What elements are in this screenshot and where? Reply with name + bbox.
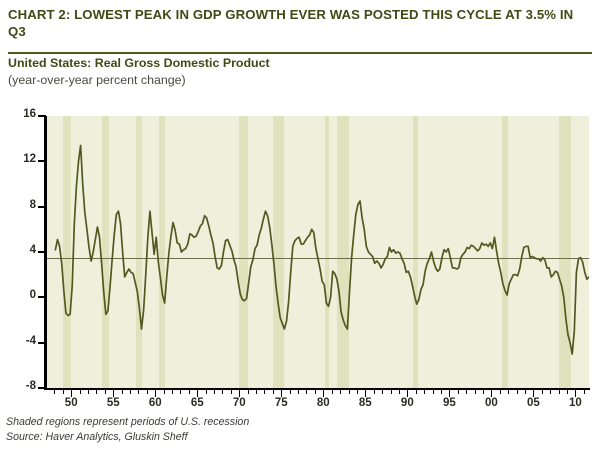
x-tick-minor xyxy=(433,390,434,394)
x-tick-minor xyxy=(315,390,316,394)
x-tick-minor xyxy=(517,390,518,394)
x-tick-minor xyxy=(180,390,181,394)
x-tick-minor xyxy=(214,390,215,394)
x-tick-minor xyxy=(559,390,560,394)
x-tick-minor xyxy=(500,390,501,394)
x-tick-minor xyxy=(382,390,383,394)
x-tick-minor xyxy=(542,390,543,394)
x-tick-minor xyxy=(138,390,139,394)
x-tick-minor xyxy=(340,390,341,394)
x-tick-minor xyxy=(172,390,173,394)
y-tick xyxy=(38,296,44,298)
y-tick xyxy=(38,115,44,117)
x-tick-minor xyxy=(399,390,400,394)
x-tick-major xyxy=(113,390,114,397)
x-tick-minor xyxy=(306,390,307,394)
x-tick-major xyxy=(365,390,366,397)
x-tick-minor xyxy=(584,390,585,394)
x-tick-minor xyxy=(466,390,467,394)
x-tick-minor xyxy=(475,390,476,394)
x-tick-minor xyxy=(122,390,123,394)
x-tick-minor xyxy=(63,390,64,394)
x-axis-tick-label: 10 xyxy=(569,397,582,409)
x-tick-major xyxy=(407,390,408,397)
x-axis-tick-label: 50 xyxy=(65,397,78,409)
y-tick xyxy=(38,251,44,253)
y-axis-tick-label: -4 xyxy=(6,335,36,347)
footnote-source: Source: Haver Analytics, Gluskin Sheff xyxy=(6,431,188,443)
x-tick-minor xyxy=(222,390,223,394)
y-axis-tick-label: 16 xyxy=(6,108,36,120)
x-axis-tick-label: 85 xyxy=(359,397,372,409)
x-axis-tick-label: 60 xyxy=(149,397,162,409)
x-tick-major xyxy=(323,390,324,397)
x-tick-minor xyxy=(164,390,165,394)
y-axis-tick-label: 8 xyxy=(6,199,36,211)
x-tick-minor xyxy=(357,390,358,394)
x-axis-tick-label: 05 xyxy=(527,397,540,409)
x-tick-minor xyxy=(550,390,551,394)
x-axis-tick-label: 80 xyxy=(317,397,330,409)
x-tick-minor xyxy=(298,390,299,394)
x-tick-minor xyxy=(424,390,425,394)
x-axis-tick-label: 75 xyxy=(275,397,288,409)
x-tick-minor xyxy=(458,390,459,394)
x-tick-major xyxy=(575,390,576,397)
x-tick-major xyxy=(533,390,534,397)
chart-units-label: (year-over-year percent change) xyxy=(8,73,186,87)
y-tick xyxy=(38,387,44,389)
y-axis-tick-label: 0 xyxy=(6,289,36,301)
x-axis-tick-label: 00 xyxy=(485,397,498,409)
plot-area xyxy=(46,116,589,388)
chart-page: CHART 2: LOWEST PEAK IN GDP GROWTH EVER … xyxy=(0,0,600,452)
x-tick-minor xyxy=(332,390,333,394)
chart-subtitle: United States: Real Gross Domestic Produ… xyxy=(8,56,270,70)
x-tick-major xyxy=(239,390,240,397)
x-tick-minor xyxy=(206,390,207,394)
x-tick-minor xyxy=(248,390,249,394)
y-tick xyxy=(38,206,44,208)
gdp-growth-line xyxy=(47,116,589,388)
x-tick-major xyxy=(155,390,156,397)
x-tick-minor xyxy=(290,390,291,394)
x-tick-minor xyxy=(391,390,392,394)
x-tick-major xyxy=(449,390,450,397)
footnote-shading: Shaded regions represent periods of U.S.… xyxy=(6,416,249,428)
y-axis-tick-label: 12 xyxy=(6,153,36,165)
x-tick-minor xyxy=(231,390,232,394)
x-tick-minor xyxy=(105,390,106,394)
x-tick-minor xyxy=(416,390,417,394)
x-tick-minor xyxy=(273,390,274,394)
x-tick-minor xyxy=(374,390,375,394)
x-tick-minor xyxy=(130,390,131,394)
x-tick-major xyxy=(491,390,492,397)
y-axis-tick-label: -8 xyxy=(6,380,36,392)
x-tick-minor xyxy=(525,390,526,394)
x-axis-tick-label: 90 xyxy=(401,397,414,409)
x-tick-minor xyxy=(508,390,509,394)
x-tick-minor xyxy=(88,390,89,394)
x-tick-minor xyxy=(80,390,81,394)
x-tick-minor xyxy=(147,390,148,394)
page-title: CHART 2: LOWEST PEAK IN GDP GROWTH EVER … xyxy=(8,6,584,40)
x-tick-minor xyxy=(483,390,484,394)
y-axis-tick-label: 4 xyxy=(6,244,36,256)
x-tick-minor xyxy=(441,390,442,394)
x-tick-minor xyxy=(349,390,350,394)
x-axis-tick-label: 95 xyxy=(443,397,456,409)
x-tick-minor xyxy=(256,390,257,394)
x-axis-tick-label: 55 xyxy=(107,397,120,409)
x-tick-major xyxy=(197,390,198,397)
title-divider xyxy=(8,52,592,54)
x-tick-minor xyxy=(96,390,97,394)
x-tick-minor xyxy=(264,390,265,394)
y-tick xyxy=(38,342,44,344)
x-tick-minor xyxy=(189,390,190,394)
x-axis-tick-label: 70 xyxy=(233,397,246,409)
x-tick-major xyxy=(71,390,72,397)
x-tick-minor xyxy=(567,390,568,394)
x-tick-minor xyxy=(54,390,55,394)
y-tick xyxy=(38,160,44,162)
x-tick-major xyxy=(281,390,282,397)
x-axis-tick-label: 65 xyxy=(191,397,204,409)
